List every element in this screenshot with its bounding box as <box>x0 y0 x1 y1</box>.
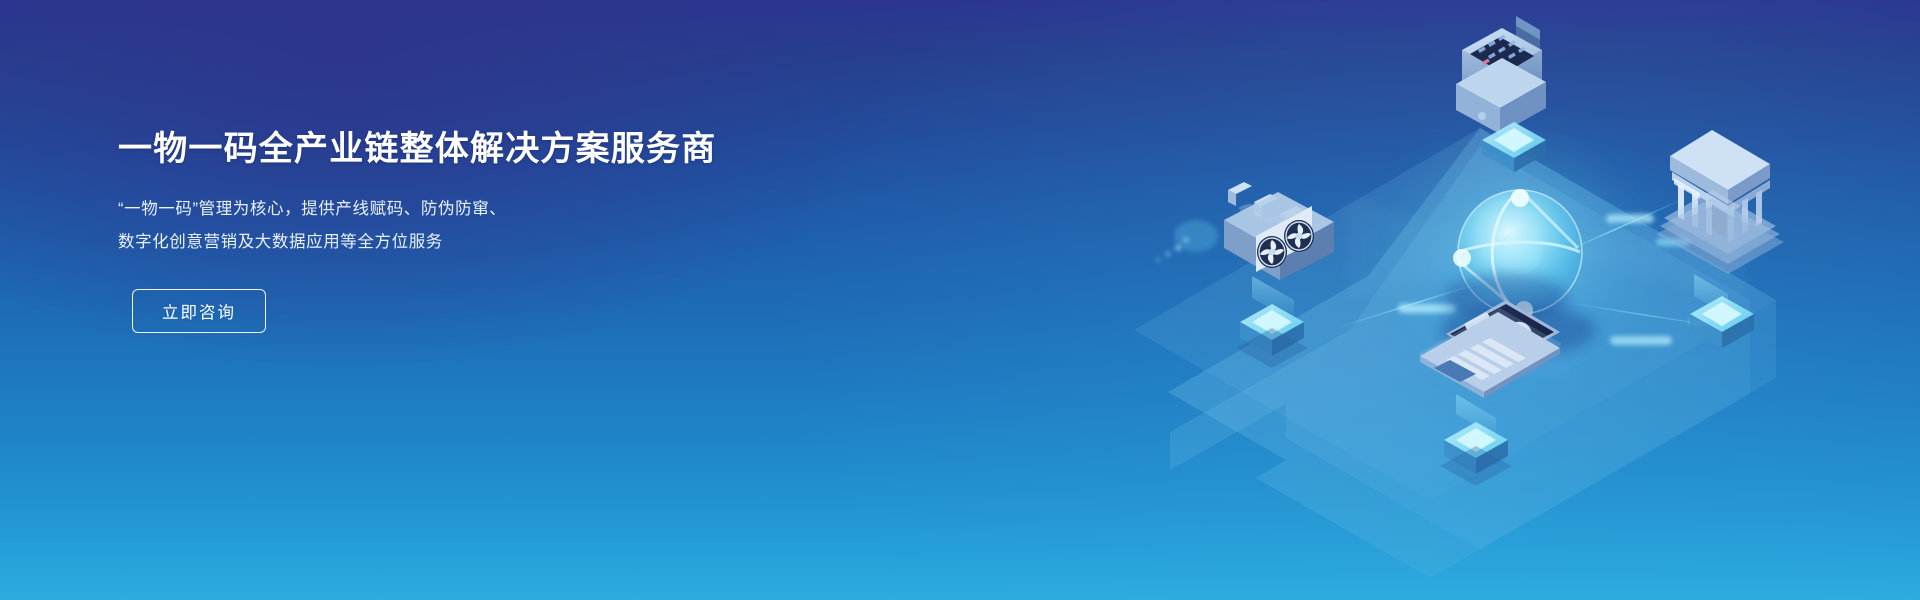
subtitle-line-1: “一物一码”管理为核心，提供产线赋码、防伪防窜、 <box>118 193 758 226</box>
glowing-data-link-lines <box>1330 120 1740 400</box>
pos-terminal-icon <box>1456 16 1546 172</box>
laptop-lock-icon <box>1418 274 1568 486</box>
bank-building-icon <box>1656 130 1784 348</box>
light-shafts <box>1346 196 1750 380</box>
hero-subtitle: “一物一码”管理为核心，提供产线赋码、防伪防窜、 数字化创意营销及大数据应用等全… <box>118 193 758 259</box>
isometric-iot-network-scene <box>1050 0 1810 600</box>
hero-copy: 一物一码全产业链整体解决方案服务商 “一物一码”管理为核心，提供产线赋码、防伪防… <box>118 128 758 333</box>
page-title: 一物一码全产业链整体解决方案服务商 <box>118 128 758 171</box>
subtitle-line-2: 数字化创意营销及大数据应用等全方位服务 <box>118 226 758 259</box>
server-rack-fan-icon <box>1156 182 1334 368</box>
isometric-translucent-platform <box>1134 128 1776 578</box>
consult-now-button[interactable]: 立即咨询 <box>132 289 266 333</box>
hero-banner: 一物一码全产业链整体解决方案服务商 “一物一码”管理为核心，提供产线赋码、防伪防… <box>0 0 1920 600</box>
glowing-network-sphere <box>1370 112 1670 392</box>
